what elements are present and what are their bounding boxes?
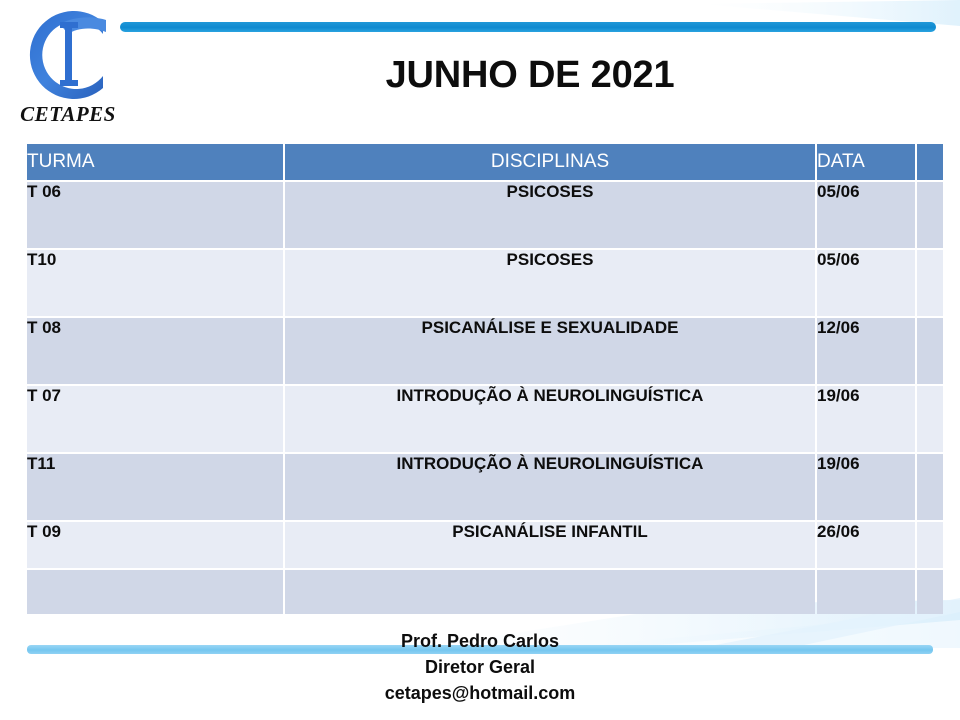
footer-name: Prof. Pedro Carlos xyxy=(0,628,960,654)
logo-wordmark: CETAPES xyxy=(8,102,128,127)
column-header-extra[interactable] xyxy=(917,144,943,180)
table-header-row: TURMA DISCIPLINAS DATA xyxy=(27,144,943,180)
footer-email[interactable]: cetapes@hotmail.com xyxy=(0,680,960,706)
cell-turma xyxy=(27,570,283,614)
cell-data: 19/06 xyxy=(817,454,915,520)
cell-disciplina: PSICANÁLISE INFANTIL xyxy=(285,522,815,568)
schedule-table: TURMA DISCIPLINAS DATA T 06 PSICOSES 05/… xyxy=(25,142,945,616)
cell-turma: T10 xyxy=(27,250,283,316)
cell-disciplina: PSICANÁLISE E SEXUALIDADE xyxy=(285,318,815,384)
cell-extra xyxy=(917,386,943,452)
table-row[interactable]: T 09 PSICANÁLISE INFANTIL 26/06 xyxy=(27,522,943,568)
cell-turma: T 08 xyxy=(27,318,283,384)
schedule-table-container: TURMA DISCIPLINAS DATA T 06 PSICOSES 05/… xyxy=(25,142,935,616)
cetapes-c-logo-icon xyxy=(8,2,128,106)
column-header-data[interactable]: DATA xyxy=(817,144,915,180)
cell-disciplina: INTRODUÇÃO À NEUROLINGUÍSTICA xyxy=(285,454,815,520)
cell-turma: T11 xyxy=(27,454,283,520)
cell-turma: T 06 xyxy=(27,182,283,248)
cell-data: 12/06 xyxy=(817,318,915,384)
slide-canvas: CETAPES JUNHO DE 2021 TURMA DISCIPLINAS … xyxy=(0,0,960,720)
footer-signature: Prof. Pedro Carlos Diretor Geral cetapes… xyxy=(0,628,960,706)
top-accent-bar xyxy=(120,22,936,32)
cell-data: 19/06 xyxy=(817,386,915,452)
table-row[interactable]: T 06 PSICOSES 05/06 xyxy=(27,182,943,248)
cell-extra xyxy=(917,570,943,614)
page-title: JUNHO DE 2021 xyxy=(130,54,930,97)
cell-disciplina: PSICOSES xyxy=(285,250,815,316)
column-header-turma[interactable]: TURMA xyxy=(27,144,283,180)
cell-extra xyxy=(917,522,943,568)
logo: CETAPES xyxy=(8,2,128,136)
table-row[interactable]: T10 PSICOSES 05/06 xyxy=(27,250,943,316)
cell-disciplina xyxy=(285,570,815,614)
footer-role: Diretor Geral xyxy=(0,654,960,680)
cell-disciplina: PSICOSES xyxy=(285,182,815,248)
table-row[interactable]: T 07 INTRODUÇÃO À NEUROLINGUÍSTICA 19/06 xyxy=(27,386,943,452)
column-header-disciplinas[interactable]: DISCIPLINAS xyxy=(285,144,815,180)
table-body: T 06 PSICOSES 05/06 T10 PSICOSES 05/06 T… xyxy=(27,182,943,614)
table-row[interactable]: T 08 PSICANÁLISE E SEXUALIDADE 12/06 xyxy=(27,318,943,384)
cell-disciplina: INTRODUÇÃO À NEUROLINGUÍSTICA xyxy=(285,386,815,452)
cell-extra xyxy=(917,454,943,520)
table-header: TURMA DISCIPLINAS DATA xyxy=(27,144,943,180)
cell-turma: T 07 xyxy=(27,386,283,452)
cell-extra xyxy=(917,182,943,248)
cell-extra xyxy=(917,250,943,316)
cell-data: 05/06 xyxy=(817,182,915,248)
cell-turma: T 09 xyxy=(27,522,283,568)
cell-data: 26/06 xyxy=(817,522,915,568)
table-row[interactable] xyxy=(27,570,943,614)
cell-extra xyxy=(917,318,943,384)
table-row[interactable]: T11 INTRODUÇÃO À NEUROLINGUÍSTICA 19/06 xyxy=(27,454,943,520)
cell-data: 05/06 xyxy=(817,250,915,316)
cell-data xyxy=(817,570,915,614)
